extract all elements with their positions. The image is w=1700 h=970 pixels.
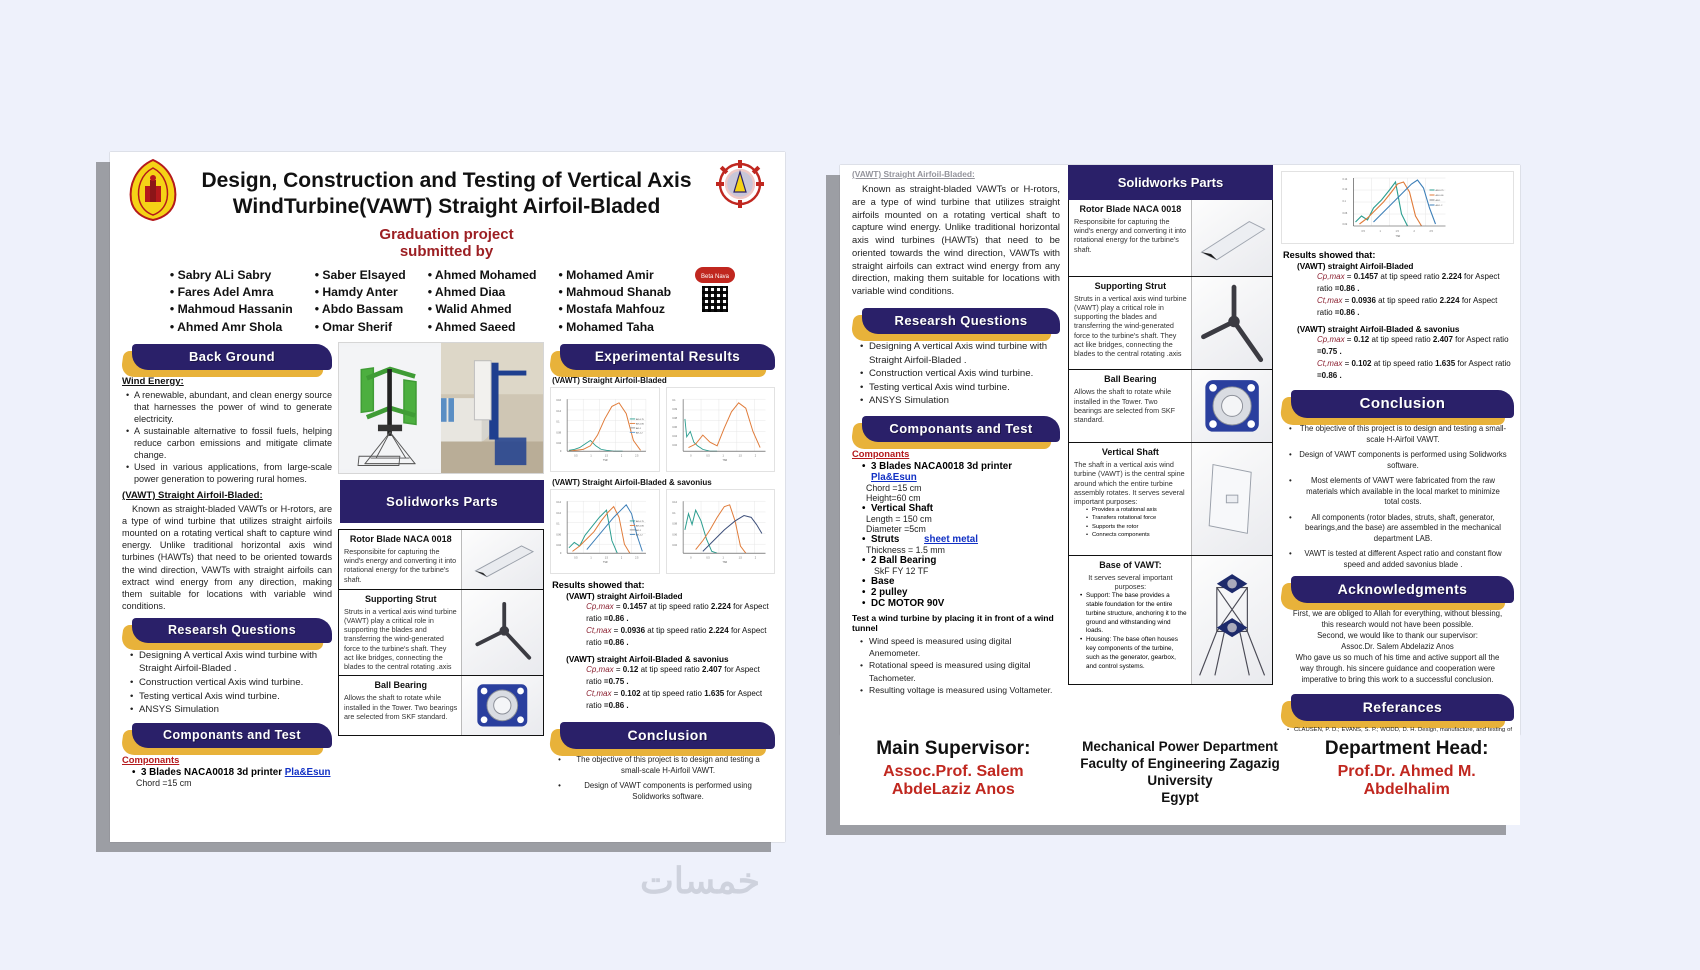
table-row: Supporting Strut Struts in a vertical ax…: [1069, 277, 1272, 371]
prefix-at: at tip speed ratio: [643, 689, 702, 698]
svg-text:0.14: 0.14: [556, 411, 561, 413]
strut-icon: [1191, 277, 1272, 370]
results-block-1-title: (VAWT) straight Airfoil-Bladed: [1297, 262, 1514, 271]
symbol: Ct,max: [1317, 359, 1342, 368]
svg-text:0.14: 0.14: [556, 502, 561, 504]
authors-list: Sabry ALi Sabry Fares Adel Amra Mahmoud …: [110, 261, 785, 338]
symbol: Cp,max: [586, 665, 614, 674]
part-title: Supporting Strut: [1074, 281, 1187, 291]
bearing-icon: [1191, 370, 1272, 442]
author-item: Fares Adel Amra: [170, 284, 293, 301]
wind-energy-heading: Wind Energy:: [122, 376, 332, 387]
tsr: 2.224: [709, 626, 729, 635]
part-description: The shaft in a vertical axis wind turbin…: [1074, 460, 1187, 506]
symbol: Cp,max: [1317, 335, 1345, 344]
tsr: 1.635: [1435, 359, 1455, 368]
svg-text:Beta Nava: Beta Nava: [701, 274, 730, 280]
results-heading: Results showed that:: [1283, 250, 1514, 260]
wind-tunnel-photo: [441, 343, 543, 473]
prefix-at: at tip speed ratio: [650, 602, 709, 611]
component-sub: SkF FY 12 TF: [874, 566, 1060, 576]
result-line: Cp,max = 0.12 at tip speed ratio 2.407 f…: [1317, 334, 1514, 358]
shaft-icon: [1191, 443, 1272, 555]
svg-text:AR-1.2: AR-1.2: [636, 431, 643, 434]
results-heading: Results showed that:: [552, 580, 775, 590]
poster-columns: Back Ground Wind Energy: A renewable, ab…: [110, 338, 785, 807]
svg-text:AR-1: AR-1: [1436, 199, 1442, 202]
chart-pair-2: 0.140.120.1 0.060.040 0.511.5 22.5 TSR A…: [550, 489, 775, 574]
table-row: Rotor Blade NACA 0018 Responsibite for c…: [1069, 200, 1272, 277]
author-item: Saber Elsayed: [315, 267, 406, 284]
conclusion-list: The objective of this project is to desi…: [558, 755, 769, 802]
department-head-label: Department Head:: [1299, 739, 1514, 760]
title-block: Design, Construction and Testing of Vert…: [188, 158, 705, 261]
chart-cp-tsr-savonius: 0.140.120.1 0.060.040 0.511.5 22.5 TSR A…: [550, 489, 659, 574]
vawt-paragraph: Known as straight-bladed VAWTs or H-roto…: [852, 183, 1060, 298]
symbol: Ct,max: [1317, 296, 1342, 305]
chart-cp-tsr: 0.160.140.1 0.080.040 0.511.5 22.5 TSR A…: [550, 387, 659, 472]
component-sub: Thickness = 1.5 mm: [866, 545, 1060, 555]
section-header-components-and-test: Componants and Test: [862, 416, 1060, 442]
results-block-1-title: (VAWT) straight Airfoil-Bladed: [566, 592, 775, 601]
part-description: Struts in a vertical axis wind turbine (…: [344, 607, 457, 672]
authors-column-2: Saber Elsayed Hamdy Anter Abdo Bassam Om…: [315, 267, 406, 336]
author-item: Sabry ALi Sabry: [170, 267, 293, 284]
component-label: Base: [871, 576, 894, 587]
result-line: Cp,max = 0.1457 at tip speed ratio 2.224…: [1317, 271, 1514, 295]
result-line: Ct,max = 0.0936 at tip speed ratio 2.224…: [1317, 295, 1514, 319]
value: 0.12: [1354, 335, 1370, 344]
svg-text:0.02: 0.02: [672, 445, 677, 447]
conclusion-item: The objective of this project is to desi…: [1289, 424, 1508, 445]
result-line: Ct,max = 0.0936 at tip speed ratio 2.224…: [586, 625, 775, 649]
aspect: =0.75 .: [604, 677, 629, 686]
vawt-subheading: (VAWT) Straight Airfoil-Bladed:: [122, 490, 332, 501]
question-item: ANSYS Simulation: [130, 703, 332, 717]
part-title: Rotor Blade NACA 0018: [1074, 204, 1187, 214]
value: 0.12: [623, 665, 639, 674]
section-title: Componants and Test: [132, 723, 332, 748]
svg-text:AR-1: AR-1: [636, 529, 642, 532]
component-link[interactable]: Pla&Esun: [285, 767, 331, 778]
part-title: Ball Bearing: [344, 680, 457, 690]
svg-text:TSR: TSR: [603, 562, 608, 564]
value: 0.0936: [621, 626, 645, 635]
question-item: Construction vertical Axis wind turbine.: [130, 676, 332, 690]
section-header-experimental-results: Experimental Results: [560, 344, 775, 370]
prefix-at: at tip speed ratio: [647, 626, 706, 635]
part-sub-item: Provides a rotational axis: [1086, 506, 1187, 514]
part-sub-item: Transfers rotational force: [1086, 514, 1187, 522]
authors-column-3: Ahmed Mohamed Ahmed Diaa Walid Ahmed Ahm…: [428, 267, 537, 336]
svg-text:0.12: 0.12: [1343, 188, 1348, 191]
component-label: 3 Blades NACA0018 3d printer: [141, 767, 282, 778]
part-sub-list: Provides a rotational axis Transfers rot…: [1086, 506, 1187, 538]
value: 0.0936: [1351, 296, 1375, 305]
conclusion-list: The objective of this project is to desi…: [1289, 424, 1508, 570]
result-line: Cp,max = 0.12 at tip speed ratio 2.407 f…: [586, 664, 775, 688]
references-list: CLAUSEN, P. D.; EVANS, S. P.; WODD, D. H…: [1287, 727, 1512, 735]
tsr: 2.407: [1433, 335, 1453, 344]
conclusion-item: All components (rotor blades, struts, sh…: [1289, 513, 1508, 545]
chart-caption-2: (VAWT) Straight Airfoil-Bladed & savoniu…: [552, 478, 775, 487]
svg-text:TSR: TSR: [722, 460, 727, 462]
section-title: Conclusion: [1291, 390, 1514, 418]
svg-text:0.04: 0.04: [556, 443, 561, 445]
poster-right-footer: Main Supervisor: Assoc.Prof. Salem AbdeL…: [840, 735, 1520, 825]
value: 0.1457: [623, 602, 647, 611]
table-row: Ball Bearing Allows the shaft to rotate …: [339, 676, 543, 735]
author-item: Ahmed Saeed: [428, 319, 537, 336]
result-line: Cp,max = 0.1457 at tip speed ratio 2.224…: [586, 601, 775, 625]
aspect: =0.86 .: [604, 638, 629, 647]
part-title: Base of VAWT:: [1074, 560, 1187, 570]
section-title: Solidworks Parts: [340, 480, 544, 523]
section-header-research-questions: Researsh Questions: [132, 618, 332, 643]
section-header-acknowledgments: Acknowledgments: [1291, 576, 1514, 603]
chart-cp-tsr-savonius-top: 0.140.120.1 0.060.02 0.511.5 22.5 TSR AR…: [1281, 171, 1514, 244]
column-results: Experimental Results (VAWT) Straight Air…: [546, 338, 779, 807]
section-header-conclusion: Conclusion: [560, 722, 775, 749]
aspect: =0.86 .: [1335, 308, 1360, 317]
vawt-paragraph: Known as straight-bladed VAWTs or H-roto…: [122, 503, 332, 612]
part-description: Allows the shaft to rotate while install…: [1074, 387, 1187, 424]
watermark: خمسات: [640, 860, 760, 902]
part-sub-item: Housing: The base often houses key compo…: [1080, 636, 1187, 672]
tsr: 2.224: [1440, 296, 1460, 305]
acknowledgment-paragraph-2: Second, we would like to thank our super…: [1289, 631, 1506, 642]
aspect: =0.86 .: [1317, 371, 1342, 380]
research-questions-list: Designing A vertical Axis wind turbine w…: [860, 340, 1060, 408]
component-sub: Height=60 cm: [866, 493, 1060, 503]
part-description: Responsibite for capturing the wind's en…: [344, 547, 457, 584]
svg-text:0.04: 0.04: [672, 436, 677, 438]
prefix-at: at tip speed ratio: [1372, 335, 1431, 344]
components-list: 3 Blades NACA0018 3d printer Pla&Esun Ch…: [862, 461, 1060, 609]
prefix-for: for Aspect ratio: [1457, 359, 1510, 368]
poster-right: (VAWT) Straight Airfoil-Bladed: Known as…: [840, 165, 1520, 735]
supervisor-name: Assoc.Dr. Salem Abdelaziz Anos: [1289, 642, 1506, 653]
part-description: Struts in a vertical axis wind turbine (…: [1074, 294, 1187, 359]
part-title: Supporting Strut: [344, 594, 457, 604]
solidworks-parts-table: Rotor Blade NACA 0018 Responsibite for c…: [1068, 200, 1273, 685]
main-supervisor-name: Assoc.Prof. Salem AbdeLaziz Anos: [846, 763, 1061, 800]
author-item: Walid Ahmed: [428, 301, 537, 318]
svg-text:AR-1.2: AR-1.2: [636, 533, 643, 536]
result-line: Ct,max = 0.102 at tip speed ratio 1.635 …: [1317, 358, 1514, 382]
test-item: Rotational speed is measured using digit…: [860, 659, 1060, 683]
blade-icon: [461, 530, 543, 589]
component-item: Vertical Shaft: [862, 503, 1060, 514]
svg-text:TSR: TSR: [722, 562, 727, 564]
result-line: Ct,max = 0.102 at tip speed ratio 1.635 …: [586, 688, 775, 712]
conclusion-item: VAWT is tested at different Aspect ratio…: [1289, 549, 1508, 570]
prefix-for: for Aspect ratio: [1455, 335, 1508, 344]
svg-text:0.06: 0.06: [672, 534, 677, 536]
poster-left: Design, Construction and Testing of Vert…: [110, 152, 785, 842]
bullet-item: Used in various applications, from large…: [126, 461, 332, 485]
svg-text:TSR: TSR: [603, 460, 608, 462]
svg-text:AR-0.86: AR-0.86: [1436, 194, 1445, 197]
table-row: Ball Bearing Allows the shaft to rotate …: [1069, 370, 1272, 443]
chart-ct-tsr-savonius: 0.120.10.08 0.060.02 00.51 1.52 TSR: [666, 489, 775, 574]
authors-column-4: Mohamed Amir Mahmoud Shanab Mostafa Mahf…: [558, 267, 671, 336]
chart-caption-1: (VAWT) Straight Airfoil-Bladed: [552, 376, 775, 385]
prefix-at: at tip speed ratio: [1380, 272, 1439, 281]
section-title: Referances: [1291, 694, 1514, 721]
screenshot-stage: Design, Construction and Testing of Vert…: [0, 0, 1700, 970]
component-link[interactable]: Pla&Esun: [871, 472, 917, 483]
component-item: DC MOTOR 90V: [862, 598, 1060, 609]
conclusion-item: The objective of this project is to desi…: [558, 755, 769, 776]
component-item: 3 Blades NACA0018 3d printer Pla&Esun: [862, 461, 1060, 483]
symbol: Ct,max: [586, 626, 611, 635]
section-title: Acknowledgments: [1291, 576, 1514, 603]
svg-text:0.02: 0.02: [672, 545, 677, 547]
part-description: It serves several important purposes:: [1074, 573, 1187, 591]
component-label: DC MOTOR 90V: [871, 598, 944, 609]
wind-energy-bullets: A renewable, abundant, and clean energy …: [126, 389, 332, 485]
bullet-item: A renewable, abundant, and clean energy …: [126, 389, 332, 425]
solidworks-parts-table: Rotor Blade NACA 0018 Responsibite for c…: [338, 529, 544, 736]
question-item: Construction vertical Axis wind turbine.: [860, 367, 1060, 381]
svg-text:0.12: 0.12: [556, 513, 561, 515]
poster-header: Design, Construction and Testing of Vert…: [110, 152, 785, 261]
component-item: 2 pulley: [862, 587, 1060, 598]
components-list: 3 Blades NACA0018 3d printer Pla&Esun Ch…: [132, 767, 332, 788]
subtitle-line-1: Graduation project: [188, 226, 705, 243]
department-line-1: Mechanical Power Department: [1073, 739, 1288, 756]
author-item: Omar Sherif: [315, 319, 406, 336]
aspect: =0.86 .: [604, 701, 629, 710]
project-photos: [338, 342, 544, 474]
svg-text:0.02: 0.02: [1343, 223, 1348, 226]
authors-column-1: Sabry ALi Sabry Fares Adel Amra Mahmoud …: [170, 267, 293, 336]
table-row: Base of VAWT: It serves several importan…: [1069, 556, 1272, 684]
section-header-components-and-test: Componants and Test: [132, 723, 332, 748]
table-row: Vertical Shaft The shaft in a vertical a…: [1069, 443, 1272, 556]
part-title: Rotor Blade NACA 0018: [344, 534, 457, 544]
section-title: Researsh Questions: [132, 618, 332, 643]
column-solidworks: Solidworks Parts Rotor Blade NACA 0018 R…: [336, 338, 546, 807]
section-header-conclusion: Conclusion: [1291, 390, 1514, 418]
aspect: =0.86 .: [1335, 284, 1360, 293]
footer-department: Mechanical Power Department Faculty of E…: [1067, 739, 1294, 807]
acknowledgment-paragraph-1: First, we are obliged to Allah for every…: [1289, 609, 1506, 631]
vawt-subheading-clipped: (VAWT) Straight Airfoil-Bladed:: [852, 169, 1060, 179]
svg-text:AR-0.86: AR-0.86: [636, 524, 645, 527]
main-supervisor-label: Main Supervisor:: [846, 739, 1061, 760]
svg-text:AR-0.75: AR-0.75: [636, 418, 645, 421]
value: 0.102: [621, 689, 641, 698]
components-heading: Componants: [852, 448, 1060, 459]
blade-icon: [1191, 200, 1272, 276]
svg-text:AR-0.75: AR-0.75: [636, 520, 645, 523]
part-description: Allows the shaft to rotate while install…: [344, 693, 457, 721]
right-column-solidworks: Solidworks Parts Rotor Blade NACA 0018 R…: [1068, 165, 1273, 735]
section-title: Back Ground: [132, 344, 332, 370]
question-item: Designing A vertical Axis wind turbine w…: [860, 340, 1060, 367]
symbol: Ct,max: [586, 689, 611, 698]
section-title: Componants and Test: [862, 416, 1060, 442]
svg-text:0.06: 0.06: [672, 427, 677, 429]
section-header-research-questions: Researsh Questions: [862, 308, 1060, 334]
question-item: Designing A vertical Axis wind turbine w…: [130, 649, 332, 676]
section-title: Experimental Results: [560, 344, 775, 370]
section-title: Solidworks Parts: [1068, 165, 1273, 200]
tsr: 2.224: [711, 602, 731, 611]
component-label: 2 pulley: [871, 587, 907, 598]
part-description: Responsibite for capturing the wind's en…: [1074, 217, 1187, 254]
svg-text:AR-0.75: AR-0.75: [1436, 189, 1445, 192]
component-label: Vertical Shaft: [871, 503, 933, 514]
reference-item: CLAUSEN, P. D.; EVANS, S. P.; WODD, D. H…: [1287, 727, 1512, 735]
component-label: 2 Ball Bearing: [871, 555, 936, 566]
author-item: Mohamed Amir: [558, 267, 671, 284]
tsr: 2.407: [702, 665, 722, 674]
author-item: Ahmed Amr Shola: [170, 319, 293, 336]
section-title: Researsh Questions: [862, 308, 1060, 334]
qr-code-icon: [702, 286, 728, 312]
svg-text:0.08: 0.08: [672, 418, 677, 420]
results-block-2-title: (VAWT) straight Airfoil-Bladed & savoniu…: [1297, 325, 1514, 334]
section-header-background: Back Ground: [132, 344, 332, 370]
symbol: Cp,max: [1317, 272, 1345, 281]
base-icon: [1191, 556, 1272, 684]
author-item: Mohamed Taha: [558, 319, 671, 336]
section-header-solidworks: Solidworks Parts: [340, 480, 544, 523]
author-item: Abdo Bassam: [315, 301, 406, 318]
chart-pair-top: 0.140.120.1 0.060.02 0.511.5 22.5 TSR AR…: [1281, 171, 1514, 244]
test-item: Wind speed is measured using digital Ane…: [860, 635, 1060, 659]
department-head-name: Prof.Dr. Ahmed M. Abdelhalim: [1299, 763, 1514, 800]
svg-text:0.09: 0.09: [672, 409, 677, 411]
svg-text:AR-1.2: AR-1.2: [1436, 204, 1444, 207]
component-label: 3 Blades NACA0018 3d printer: [871, 461, 1012, 472]
svg-text:0.08: 0.08: [556, 432, 561, 434]
component-sub: Diameter =5cm: [866, 524, 1060, 534]
department-line-3: Egypt: [1073, 790, 1288, 807]
prefix-at: at tip speed ratio: [641, 665, 700, 674]
component-sub: Chord =15 cm: [136, 778, 332, 788]
conclusion-item: Design of VAWT components is performed u…: [1289, 450, 1508, 471]
author-item: Mostafa Mahfouz: [558, 301, 671, 318]
chart-ct-tsr: 0.10.090.08 0.060.040.02 00.51 1.52 TSR: [666, 387, 775, 472]
page-title: Design, Construction and Testing of Vert…: [188, 168, 705, 219]
table-row: Supporting Strut Struts in a vertical ax…: [339, 590, 543, 677]
value: 0.1457: [1354, 272, 1378, 281]
strut-icon: [461, 590, 543, 676]
aspect: =0.75 .: [1317, 347, 1342, 356]
author-item: Mahmoud Shanab: [558, 284, 671, 301]
prefix-at: at tip speed ratio: [1374, 359, 1433, 368]
research-questions-list: Designing A vertical Axis wind turbine w…: [130, 649, 332, 717]
value: 0.102: [1351, 359, 1371, 368]
test-item: Resulting voltage is measured using Volt…: [860, 684, 1060, 696]
right-column-text: (VAWT) Straight Airfoil-Bladed: Known as…: [840, 165, 1068, 735]
prefix-at: at tip speed ratio: [1378, 296, 1437, 305]
part-title: Vertical Shaft: [1074, 447, 1187, 457]
component-sub: Chord =15 cm: [866, 483, 1060, 493]
svg-text:0.16: 0.16: [556, 400, 561, 402]
acknowledgment-paragraph-3: Who gave us so much of his time and acti…: [1289, 653, 1506, 686]
symbol: Cp,max: [586, 602, 614, 611]
svg-text:AR-0.86: AR-0.86: [636, 422, 645, 425]
component-item: 2 Ball Bearing: [862, 555, 1060, 566]
results-block-2-title: (VAWT) straight Airfoil-Bladed & savoniu…: [566, 655, 775, 664]
part-title: Ball Bearing: [1074, 374, 1187, 384]
section-title: Conclusion: [560, 722, 775, 749]
component-label: Struts: [871, 534, 899, 545]
part-sub-item: Connects components: [1086, 531, 1187, 539]
svg-text:0.08: 0.08: [672, 524, 677, 526]
bearing-icon: [461, 676, 543, 735]
subtitle-line-2: submitted by: [188, 243, 705, 260]
author-item: Mahmoud Hassanin: [170, 301, 293, 318]
tsr: 1.635: [704, 689, 724, 698]
part-sub-item: Support: The base provides a stable foun…: [1080, 592, 1187, 637]
footer-department-head: Department Head: Prof.Dr. Ahmed M. Abdel…: [1293, 739, 1520, 800]
tsr: 2.224: [1442, 272, 1462, 281]
svg-text:0.12: 0.12: [672, 502, 677, 504]
conclusion-item: Design of VAWT components is performed u…: [558, 781, 769, 802]
test-bullets: Wind speed is measured using digital Ane…: [860, 635, 1060, 696]
svg-text:AR-1: AR-1: [636, 427, 642, 430]
conclusion-item: Most elements of VAWT were fabricated fr…: [1289, 476, 1508, 508]
question-item: Testing vertical Axis wind turbine.: [860, 381, 1060, 395]
faculty-logo-icon: [705, 158, 775, 219]
question-item: ANSYS Simulation: [860, 394, 1060, 408]
component-item: Base: [862, 576, 1060, 587]
footer-main-supervisor: Main Supervisor: Assoc.Prof. Salem AbdeL…: [840, 739, 1067, 800]
svg-text:0.06: 0.06: [1343, 212, 1348, 215]
author-item: Hamdy Anter: [315, 284, 406, 301]
zagazig-university-logo-icon: [118, 158, 188, 227]
bullet-item: A sustainable alternative to fossil fuel…: [126, 425, 332, 461]
table-row: Rotor Blade NACA 0018 Responsibite for c…: [339, 530, 543, 590]
part-sub-list: Support: The base provides a stable foun…: [1080, 592, 1187, 673]
component-link[interactable]: sheet metal: [924, 534, 978, 545]
component-item: Struts sheet metal: [862, 534, 1060, 545]
component-sub: Length = 150 cm: [866, 514, 1060, 524]
chart-pair-1: 0.160.140.1 0.080.040 0.511.5 22.5 TSR A…: [550, 387, 775, 472]
right-column-conclusion: 0.140.120.1 0.060.02 0.511.5 22.5 TSR AR…: [1273, 165, 1520, 735]
section-header-references: Referances: [1291, 694, 1514, 721]
svg-text:0.14: 0.14: [1343, 178, 1348, 181]
column-background: Back Ground Wind Energy: A renewable, ab…: [116, 338, 336, 807]
question-item: Testing vertical Axis wind turbine.: [130, 690, 332, 704]
component-item: 3 Blades NACA0018 3d printer Pla&Esun: [132, 767, 332, 778]
aspect: =0.86 .: [604, 614, 629, 623]
test-heading: Test a wind turbine by placing it in fro…: [852, 613, 1060, 633]
author-item: Ahmed Mohamed: [428, 267, 537, 284]
components-heading: Componants: [122, 754, 332, 765]
svg-text:0.06: 0.06: [556, 534, 561, 536]
khamsat-badge-icon: Beta Nava: [695, 267, 735, 283]
cad-model-photo: [339, 343, 441, 473]
department-line-2: Faculty of Engineering Zagazig Universit…: [1073, 756, 1288, 790]
part-sub-item: Supports the rotor: [1086, 523, 1187, 531]
svg-text:TSR: TSR: [1396, 235, 1401, 238]
svg-text:0.04: 0.04: [556, 545, 561, 547]
author-item: Ahmed Diaa: [428, 284, 537, 301]
